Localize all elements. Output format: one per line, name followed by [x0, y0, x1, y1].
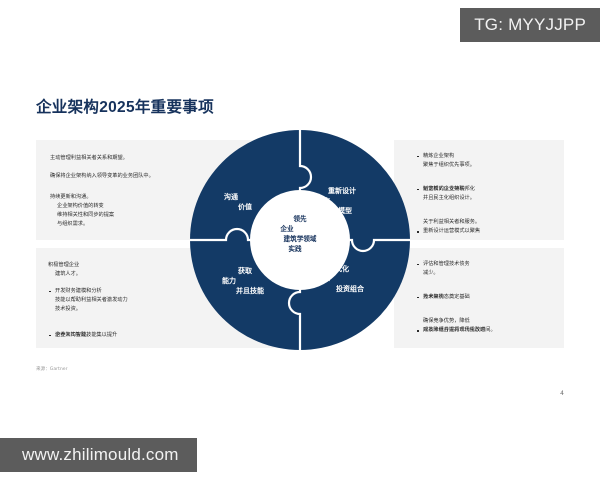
source-note: 来源：Gartner	[36, 366, 67, 372]
panel-bl-line-5: 技术投资。	[48, 305, 81, 314]
panel-tr-bullet-3: 重新设计运营模式以聚焦	[416, 227, 586, 236]
panel-tr-line-4: 运营模式以支持联邦化	[416, 185, 475, 194]
center-line-1: 领先	[252, 214, 348, 224]
page-title: 企业架构2025年重要事项	[36, 95, 214, 117]
panel-tr-bullet-1: 精炼企业架构	[416, 152, 586, 161]
panel-bl-line-2: 建筑人才。	[48, 270, 81, 279]
panel-tl-line-3: 持续更新和沟通。	[50, 193, 92, 202]
quadrant-tr-line-1: 重新设计	[316, 186, 356, 196]
quadrant-label-bottom-left: 获取 能力 并且技能	[222, 266, 264, 296]
slide-canvas: 企业架构2025年重要事项 主动管理利益相关者关系和期望。 确保将企业架构纳入领…	[12, 66, 588, 414]
quadrant-label-top-right: 重新设计 操作 模型	[316, 186, 356, 216]
watermark-bottom-left: www.zhilimould.com	[0, 438, 197, 472]
panel-br-bullet-1: 评估和管理技术债务	[416, 260, 586, 269]
center-line-4: 实践	[252, 244, 348, 254]
panel-br-line-4: 技术架构	[416, 293, 444, 302]
quadrant-bl-line-1: 获取	[222, 266, 264, 276]
quadrant-bl-line-2: 能力	[222, 276, 264, 286]
watermark-top-right: TG: MYYJJPP	[460, 8, 600, 42]
quadrant-label-top-left: 沟通 价值	[224, 192, 252, 212]
diagram-center-label: 领先 企业 建筑学领域 实践	[252, 214, 348, 254]
panel-top-right: 精炼企业架构 聚焦于组织优先事项。 制定新的企业架构 运营模式以支持联邦化 并且…	[394, 140, 564, 240]
panel-tr-line-2: 聚焦于组织优先事项。	[416, 161, 475, 170]
jigsaw-circle-diagram: 沟通 价值 重新设计 操作 模型 获取 能力 并且技能 现代化 技术 投资组合 …	[190, 130, 410, 350]
quadrant-tl-line-2: 价值	[224, 202, 252, 212]
panel-bl-line-1: 积极管理企业	[48, 261, 79, 270]
panel-tl-line-6: 与组织需求。	[50, 220, 88, 229]
page-number: 4	[560, 390, 564, 397]
quadrant-br-line-1: 现代化	[316, 264, 364, 274]
center-line-2: 企业	[252, 224, 348, 234]
panel-tr-line-5: 并且民主化组织设计。	[416, 194, 475, 203]
quadrant-br-line-3: 投资组合	[316, 284, 364, 294]
panel-tl-line-5: 维持相关性和同步的提案	[50, 211, 114, 220]
quadrant-br-line-2: 技术	[316, 274, 364, 284]
panel-br-line-2: 减少。	[416, 269, 439, 278]
panel-tl-line-4: 企业架构价值的转变	[50, 202, 104, 211]
quadrant-tl-line-1: 沟通	[224, 192, 252, 202]
panel-tl-line-1: 主动管理利益相关者关系和期望。	[50, 154, 128, 163]
panel-bl-line-7: 企业架构实践。	[48, 331, 91, 340]
center-line-3: 建筑学领域	[252, 234, 348, 244]
quadrant-tr-line-2: 操作	[316, 196, 356, 206]
panel-bl-line-4: 技能以帮助利益相关者激发动力	[48, 296, 128, 305]
watermark-bottom-left-text: www.zhilimould.com	[22, 445, 179, 465]
quadrant-bl-line-3: 并且技能	[222, 286, 264, 296]
panel-br-line-7: 成本降低并提高市场投放时间。	[416, 326, 496, 335]
panel-tr-line-7: 关于利益相关者和服务。	[416, 218, 480, 227]
quadrant-label-bottom-right: 现代化 技术 投资组合	[316, 264, 364, 294]
panel-br-line-6: 确保竞争优势，降低	[416, 317, 470, 326]
panel-tl-line-2: 确保将企业架构纳入领导变革的业务团队中。	[50, 172, 154, 181]
watermark-top-right-text: TG: MYYJJPP	[474, 15, 586, 35]
panel-bottom-right: 评估和管理技术债务 减少。 为未来状态奠定基础 技术架构 对技术组合进行现代化改…	[394, 248, 564, 348]
